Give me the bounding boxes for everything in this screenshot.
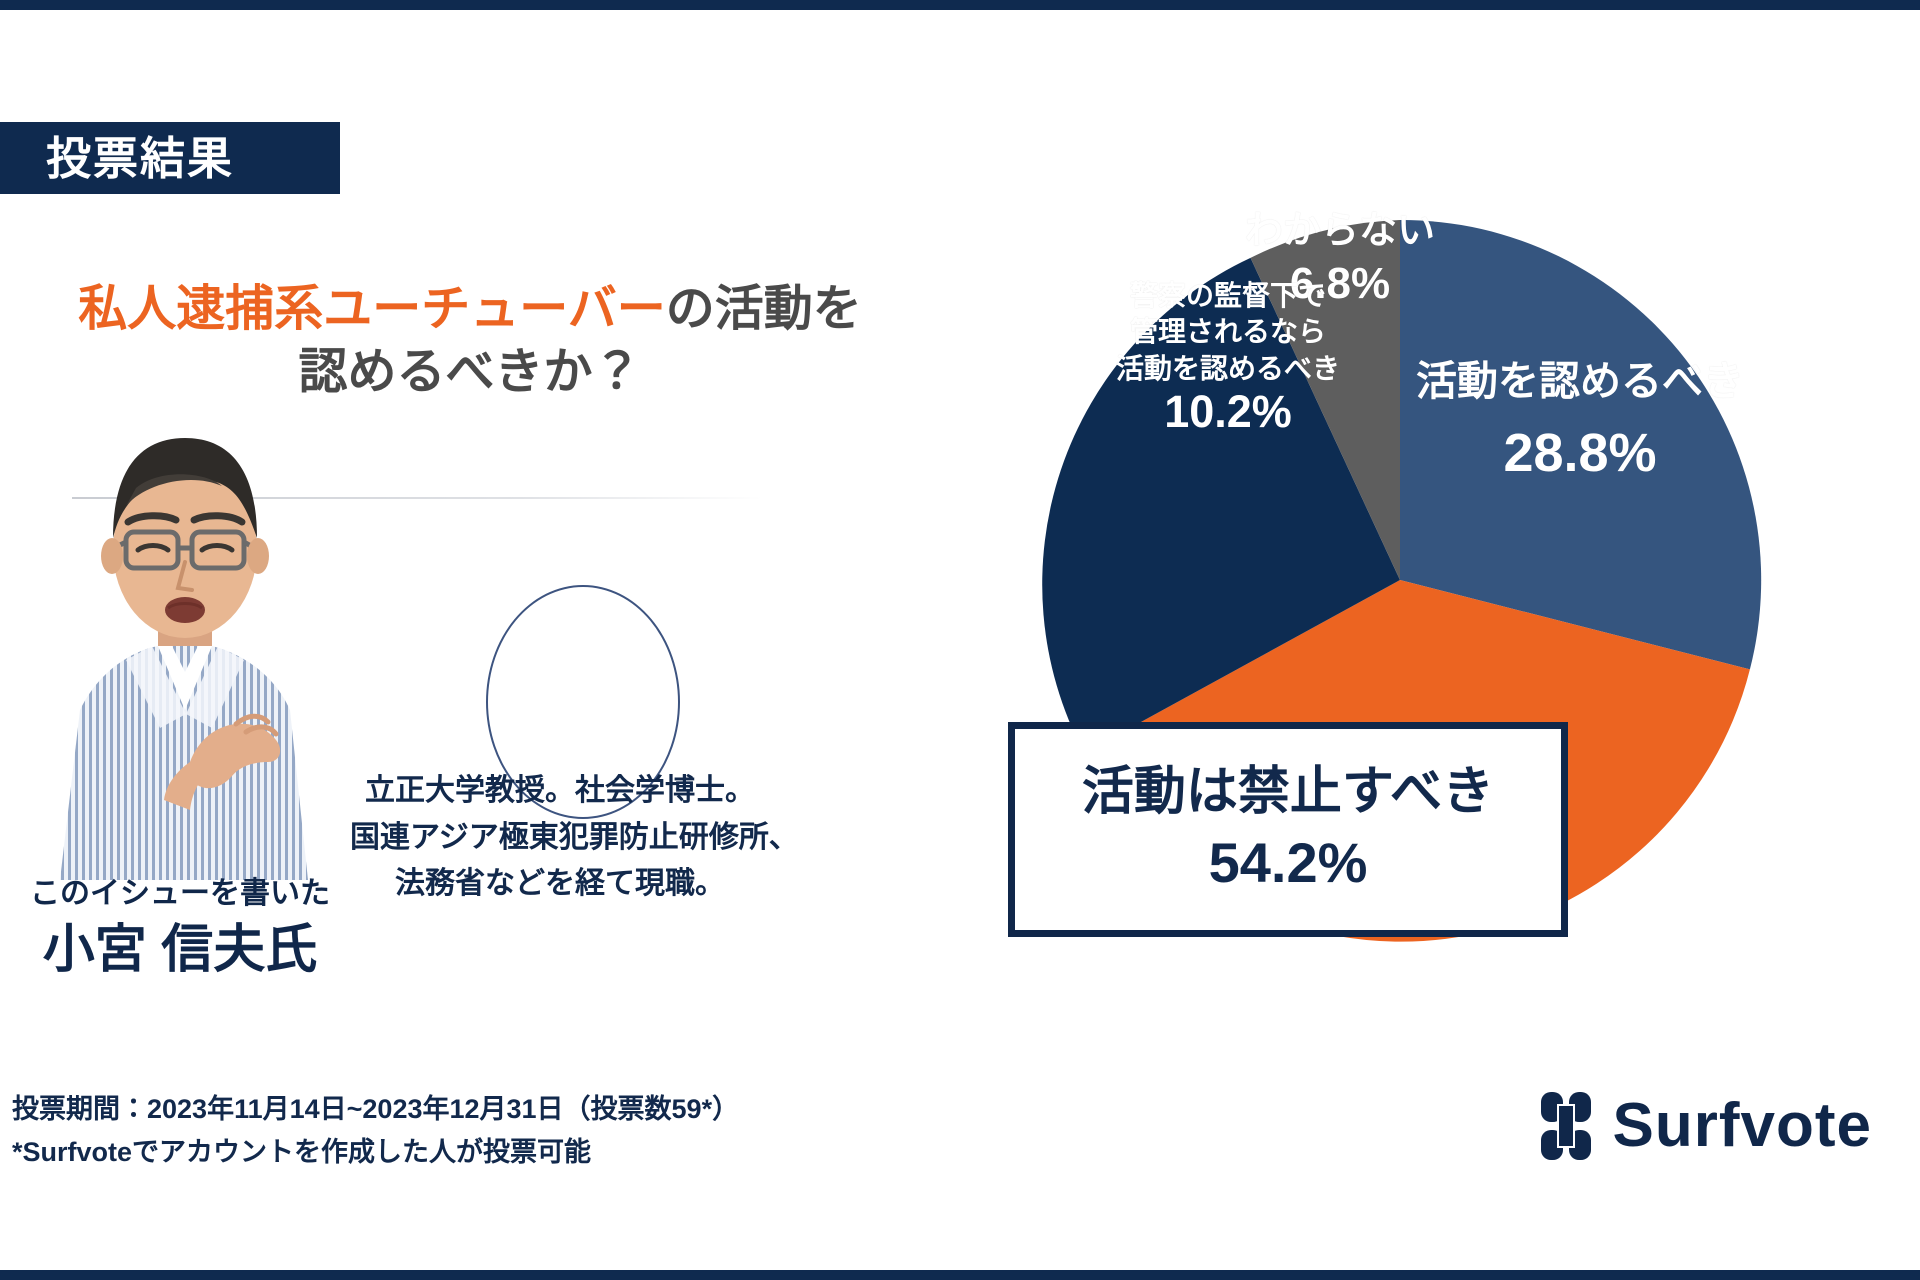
author-bio-line-1: 立正大学教授。社会学博士。 xyxy=(350,768,770,815)
bottom-rule xyxy=(0,1270,1920,1280)
author-caption: このイシューを書いた 小宮 信夫氏 xyxy=(0,876,360,983)
author-portrait-image xyxy=(40,410,330,880)
pie-label-police-supervised: 警察の監督下で 管理されるなら 活動を認めるべき 10.2% xyxy=(1068,278,1388,437)
author-bio-line-2: 国連アジア極東犯罪防止研修所、 xyxy=(350,815,770,862)
author-kicker: このイシューを書いた xyxy=(0,876,360,912)
pie-label-police-line-3: 活動を認めるべき xyxy=(1068,351,1388,387)
pie-label-unknown-text: わからない xyxy=(1215,208,1465,256)
top-rule xyxy=(0,0,1920,10)
primary-result-callout: 活動は禁止すべき 54.2% xyxy=(1008,722,1568,937)
author-bio-line-3: 法務省などを経て現職。 xyxy=(350,861,770,908)
results-badge: 投票結果 xyxy=(0,122,340,194)
primary-result-percent: 54.2% xyxy=(1209,831,1368,895)
pie-label-police-line-1: 警察の監督下で xyxy=(1068,278,1388,314)
pie-label-police-line-2: 管理されるなら xyxy=(1068,314,1388,350)
footer-note: 投票期間：2023年11月14日~2023年12月31日（投票数59*） *Su… xyxy=(12,1088,739,1174)
title-rest: の活動を xyxy=(666,282,862,336)
voting-eligibility-note: *Surfvoteでアカウントを作成した人が投票可能 xyxy=(12,1131,739,1174)
page-title-line-1: 私人逮捕系ユーチューバーの活動を xyxy=(0,278,940,341)
voting-period: 投票期間：2023年11月14日~2023年12月31日（投票数59*） xyxy=(12,1088,739,1131)
surfvote-mark-icon xyxy=(1537,1090,1595,1162)
pie-label-approve-percent: 28.8% xyxy=(1385,418,1775,488)
pie-label-police-percent: 10.2% xyxy=(1068,387,1388,437)
author-bio: 立正大学教授。社会学博士。 国連アジア極東犯罪防止研修所、 法務省などを経て現職… xyxy=(350,768,770,908)
pie-label-approve-text: 活動を認めるべき xyxy=(1385,355,1775,408)
results-badge-label: 投票結果 xyxy=(46,136,234,181)
infographic-canvas: 投票結果 私人逮捕系ユーチューバーの活動を 認めるべきか？ xyxy=(0,0,1920,1280)
primary-result-label: 活動は禁止すべき xyxy=(1082,763,1494,823)
page-title: 私人逮捕系ユーチューバーの活動を 認めるべきか？ xyxy=(0,278,940,403)
surfvote-wordmark: Surfvote xyxy=(1613,1095,1872,1157)
pie-label-approve: 活動を認めるべき 28.8% xyxy=(1385,355,1775,488)
surfvote-logo: Surfvote xyxy=(1537,1090,1872,1162)
page-title-line-2: 認めるべきか？ xyxy=(0,341,940,404)
author-name: 小宮 信夫氏 xyxy=(0,918,360,983)
author-portrait xyxy=(40,410,330,880)
title-highlight: 私人逮捕系ユーチューバー xyxy=(78,282,666,336)
